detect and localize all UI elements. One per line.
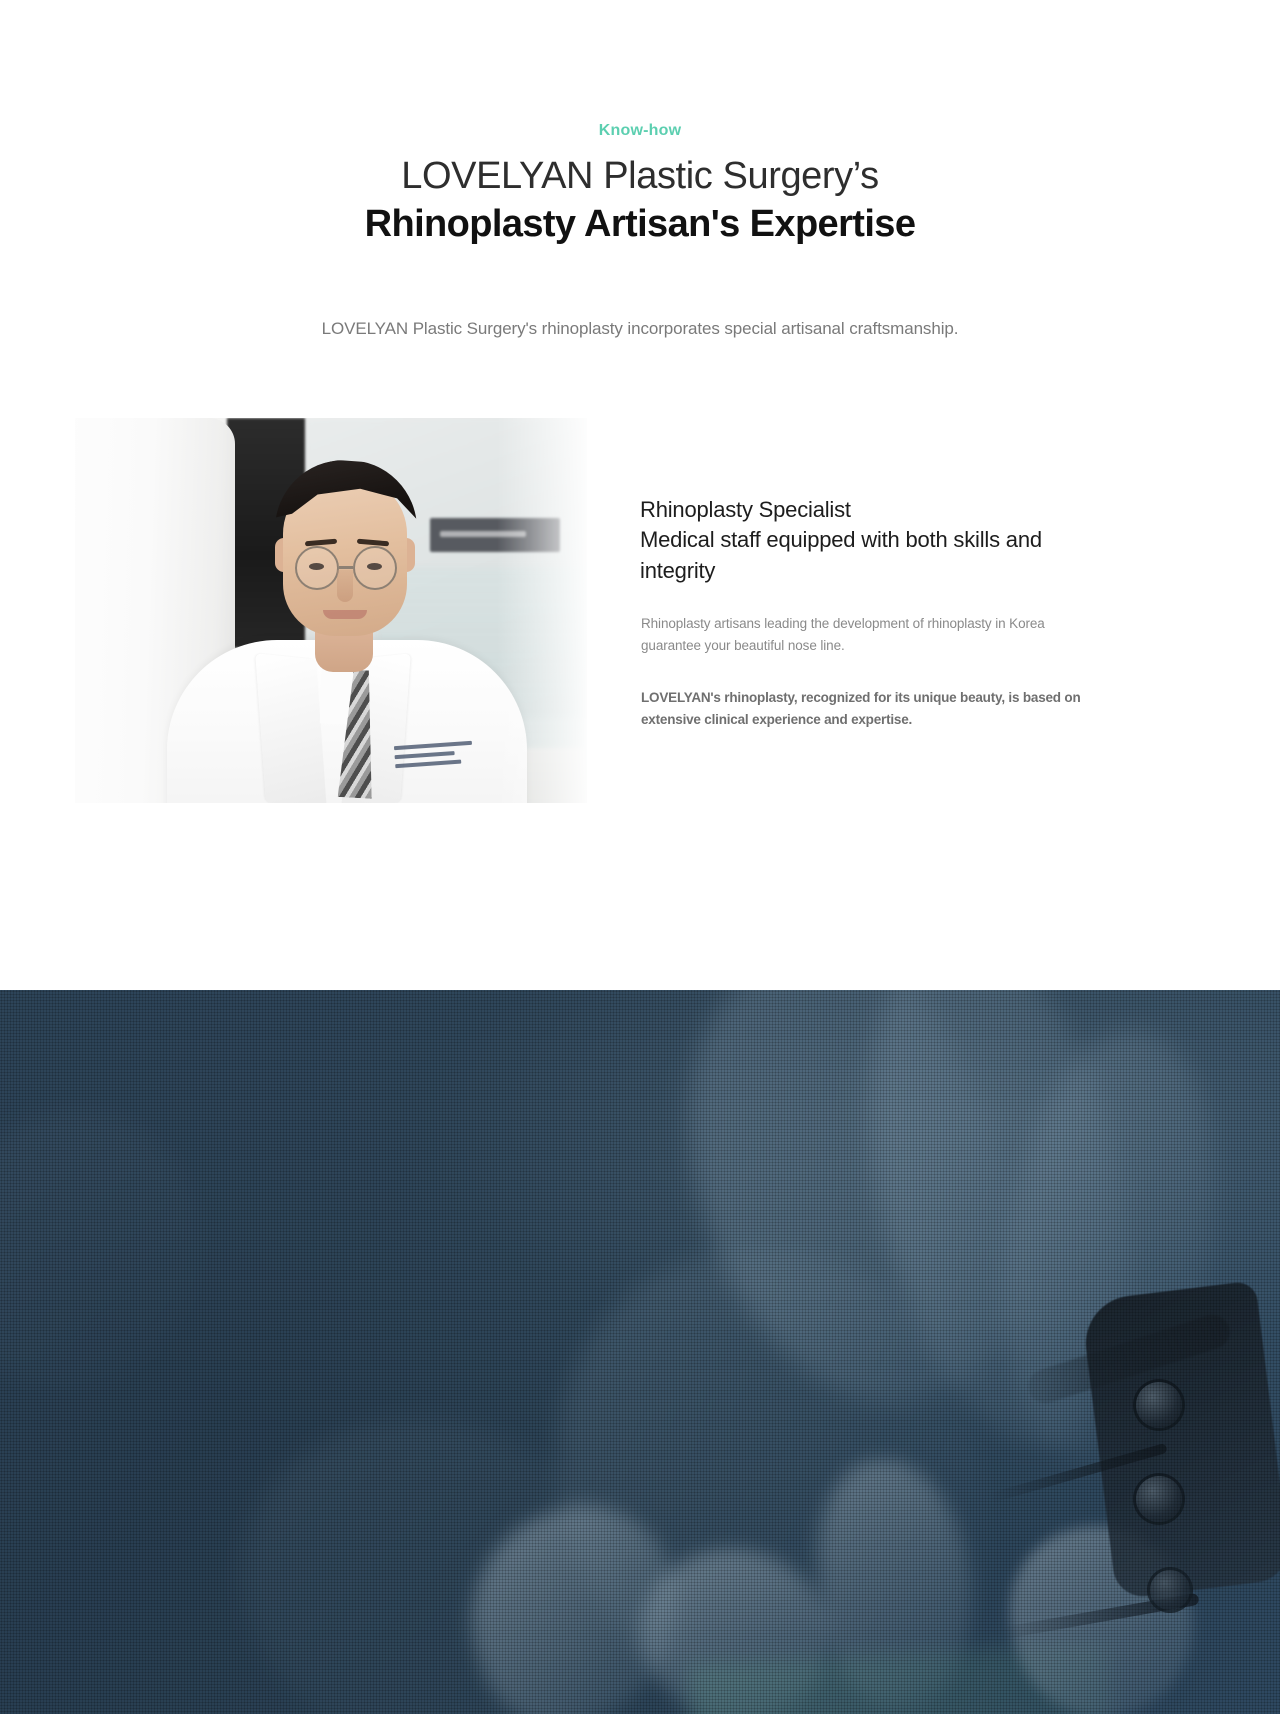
photo-coat-embroidery (394, 735, 489, 785)
profile-title-line-1: Rhinoplasty Specialist (640, 495, 1110, 525)
photo-mouth (323, 610, 367, 619)
photo-coat-lapel-left (255, 653, 326, 803)
profile-highlight: LOVELYAN's rhinoplasty, recognized for i… (641, 687, 1091, 732)
know-how-section: Know-how LOVELYAN Plastic Surgery’s Rhin… (0, 0, 1280, 990)
profile-title-line-2: Medical staff equipped with both skills … (640, 525, 1110, 555)
section-lede: LOVELYAN Plastic Surgery's rhinoplasty i… (0, 319, 1280, 339)
bg-halftone-dot-overlay (0, 990, 1280, 1714)
profile-body-line-2: guarantee your beautiful nose line. (641, 635, 1091, 657)
photo-eyeglass-lens-right (353, 546, 397, 590)
photo-eyeglass-lens-left (295, 546, 339, 590)
profile-highlight-line-2: extensive clinical experience and expert… (641, 709, 1091, 731)
profile-title: Rhinoplasty Specialist Medical staff equ… (640, 495, 1110, 586)
page-title-line-2: Rhinoplasty Artisan's Expertise (0, 200, 1280, 249)
photo-nose (337, 570, 353, 602)
profile-highlight-line-1: LOVELYAN's rhinoplasty, recognized for i… (641, 687, 1091, 709)
section-eyebrow: Know-how (0, 122, 1280, 140)
photo-eyeglass-bridge (339, 566, 353, 569)
profile-body: Rhinoplasty artisans leading the develop… (641, 613, 1091, 658)
profile-body-line-1: Rhinoplasty artisans leading the develop… (641, 613, 1091, 635)
page-title-line-1: LOVELYAN Plastic Surgery’s (0, 152, 1280, 201)
maestro-section: MAESTRO LOVELYAN medical staff, increasi… (0, 990, 1280, 1714)
doctor-portrait-image (75, 418, 587, 803)
photo-right-fade (497, 418, 587, 803)
profile-title-line-3: integrity (640, 556, 1110, 586)
